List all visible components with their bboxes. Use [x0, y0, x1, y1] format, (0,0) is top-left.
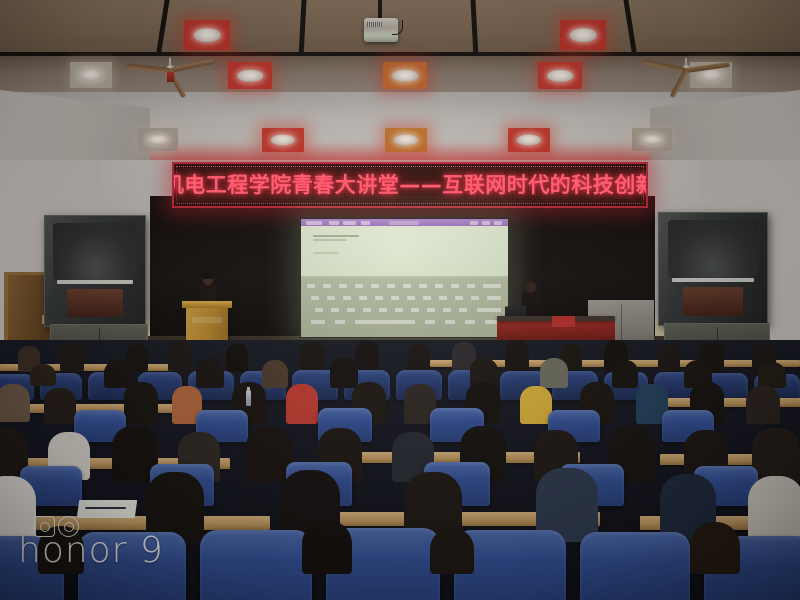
audience-member — [0, 476, 36, 540]
audience-member — [44, 388, 76, 424]
red-item-on-table — [552, 316, 575, 327]
ceiling-light — [228, 62, 272, 89]
audience-member — [758, 362, 786, 388]
audience-member — [658, 344, 680, 372]
audience-member — [0, 384, 30, 422]
audience-member — [330, 358, 358, 388]
audience-member — [30, 364, 56, 386]
seat[interactable] — [200, 530, 312, 600]
ceiling-light — [385, 128, 427, 152]
audience-member — [690, 522, 740, 574]
ceiling-light — [560, 20, 606, 50]
audience-member — [124, 382, 158, 424]
audience-member — [226, 344, 248, 372]
seat[interactable] — [580, 532, 690, 600]
ceiling-light — [383, 62, 427, 89]
projected-onscreen-keyboard — [301, 279, 508, 337]
audience-member — [430, 528, 474, 574]
ceiling-light — [184, 20, 230, 50]
audience-member — [612, 360, 638, 388]
led-banner: 机电工程学院青春大讲堂——互联网时代的科技创新 — [172, 162, 648, 208]
photo-scene: 机电工程学院青春大讲堂——互联网时代的科技创新 — [0, 0, 800, 600]
led-banner-text: 机电工程学院青春大讲堂——互联网时代的科技创新 — [172, 175, 648, 196]
audience-member — [60, 342, 84, 372]
projected-window-titlebar — [301, 219, 508, 226]
audience-member — [540, 358, 568, 388]
audience-member — [748, 476, 800, 542]
ceiling-light — [138, 128, 178, 151]
projection-screen — [301, 219, 508, 337]
ceiling-light — [632, 128, 672, 151]
audience-member — [746, 386, 780, 424]
right-loudspeaker — [658, 212, 768, 326]
audience-member — [38, 526, 84, 574]
ceiling-fan — [120, 58, 220, 88]
audience-member — [408, 344, 430, 372]
ceiling-fan — [636, 58, 736, 88]
seat[interactable] — [78, 532, 186, 600]
projection-screen-frame — [300, 218, 509, 338]
audience-member — [168, 340, 192, 372]
audience-member — [302, 520, 352, 574]
ceiling-light — [538, 62, 582, 89]
audience-member — [104, 360, 132, 388]
audience-member — [196, 358, 224, 388]
ceiling-light — [70, 62, 112, 88]
left-loudspeaker — [44, 215, 146, 327]
audience-member — [262, 360, 288, 388]
ceiling-light — [508, 128, 550, 152]
audience-member — [300, 342, 324, 372]
water-bottle — [246, 390, 251, 406]
notebook-on-desk — [77, 500, 138, 518]
audience-member — [286, 384, 318, 424]
ceiling-light — [262, 128, 304, 152]
audience-member — [505, 340, 529, 372]
audience-member — [355, 340, 379, 372]
audience-seating-area — [0, 340, 800, 600]
desk-row — [0, 516, 270, 530]
audience-member — [752, 428, 800, 482]
